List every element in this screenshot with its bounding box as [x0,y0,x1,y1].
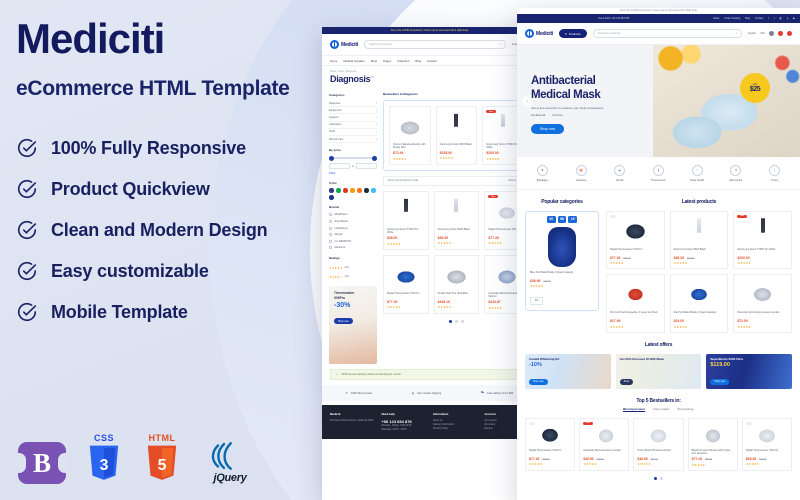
site-header: Mediciti ≡ Products Search for products … [517,23,800,45]
rating-stars: ★★★★☆ [329,275,343,279]
chevron-right-icon: › [376,130,377,133]
product-rating: ★★★★★ [610,261,661,265]
hero-cta-button[interactable]: Shop now [531,124,564,134]
check-circle-icon [16,301,38,323]
utility-link-order-tracking[interactable]: Order Tracking [724,17,740,20]
promo-panel: Mediciti eCommerce HTML Template 100% Fu… [16,18,316,342]
product-price: $36.55 [438,236,476,240]
shield-check-icon: ✓ [336,373,338,376]
color-swatch[interactable] [371,188,376,193]
offer-discount: -10% [529,362,607,368]
promo-card[interactable]: Thermometer X90Pro -30% Shop now [329,286,377,364]
tubes-icon: ▯ [769,165,780,176]
product-rating: ★★★★★ [486,157,520,161]
footer-link-privacy[interactable]: Privacy Policy [433,427,478,431]
utility-link-blog[interactable]: Blog [745,17,750,20]
chevron-right-icon: › [376,123,377,126]
category-label: Microscope [729,179,742,182]
countdown-minutes: 58 [558,216,567,223]
product-badge [529,422,535,426]
jquery-logo [207,441,253,471]
price-old: $45.00 [687,257,694,260]
color-swatch[interactable] [329,188,334,193]
pinterest-icon[interactable]: p [787,17,788,20]
brand-checkbox[interactable]: Abigail [329,231,377,238]
offer-cta-button[interactable]: Shop [620,379,634,385]
product-name: Omron Flatpulse Electric with Stroke Dis… [393,143,427,150]
badge-price: $25 [750,86,760,93]
usp-free-delivery: ⛟ Free delivery from $50 [481,391,513,395]
footer-help-column: Need help +00 123 654 878 Monday - Frida… [382,412,427,431]
sidebar-item-equipment[interactable]: Equipment › [329,107,377,114]
price-current: $77.49 [610,256,620,260]
countdown-seconds: 19 [568,216,577,223]
hero-banner: ‹ Antibacterial Medical Mask Just a few … [517,45,800,157]
slider-handle-min[interactable] [329,156,334,161]
logo-mark-icon [330,40,339,49]
footer-information-column: Information About us Delivery informatio… [433,412,478,431]
product-card[interactable]: Digital Thermometer X30 Pro $77.49 $89.0… [525,418,575,471]
instagram-icon[interactable]: ◧ [780,17,782,20]
price-current: $77.49 [692,457,702,461]
product-badge: New [486,110,495,114]
logo-mark-icon [525,29,534,38]
offer-title: SuperBrush X200 Ultra [710,358,788,362]
latest-offers-title: Latest offers [517,342,800,348]
filter-sidebar: Categories Diagnosis › Equipment › Hygie… [329,88,377,364]
popular-categories-title: Popular categories [525,199,599,205]
promo-discount: -30% [334,302,372,309]
logo-text: Mediciti [536,31,553,37]
feature-item: Clean and Modern Design [16,219,316,241]
category-label: Thermometer [651,179,666,182]
covid-notice-text: Due to the COVID-19 epidemic, orders may… [620,10,698,12]
bestsellers-heading: Bestsellers in Diagnosis [383,93,530,97]
product-image: New [737,215,788,245]
product-card[interactable]: Sale Automatic Blood pressure monitor $4… [579,418,629,471]
price-current: $36.99 [530,279,540,283]
css3-caption: CSS [94,433,114,443]
hero-feature-antibacterial: Anti-Bacterial [531,114,545,117]
delivery-icon: ⛟ [481,391,484,395]
product-rating: ★★★★★ [674,261,725,265]
product-price: $77.49 [387,300,425,304]
price-range-slider[interactable] [329,157,377,159]
color-swatch[interactable] [350,188,355,193]
site-footer: Mediciti 45 Great Portland Street, Calif… [322,405,537,438]
sidebar-item-tools[interactable]: Tools › [329,129,377,136]
twitter-icon[interactable]: t [774,17,775,20]
product-card[interactable]: Home Blood Pressure Monitor $46.65 $55.0… [633,418,683,471]
product-card[interactable]: New SonicLong Sonic X7500 Pro White $209… [733,211,792,270]
technology-badges: B CSS 3 HTML 5 jQuery [18,433,260,484]
hero-title-line2: Medical Mask [531,89,643,103]
feature-label: Clean and Modern Design [51,220,267,241]
sort-label: Sort by: [508,179,517,182]
product-price: $448.15 [438,300,476,304]
offer-cta-button[interactable]: Shop now [710,379,729,385]
category-label: Dental [616,179,623,182]
jquery-label: jQuery [213,472,246,484]
nav-item-pages[interactable]: Pages [383,59,391,63]
heart-icon[interactable] [778,31,783,36]
filter-button[interactable]: Filter [329,172,377,176]
product-rating: ★★★★★ [610,325,661,329]
product-rating: ★★★★★ [440,156,474,160]
search-input[interactable]: Search for products ⌕ [593,29,742,38]
price-current: $66.38 [746,457,756,461]
header-actions: English USD [748,31,792,36]
quantity-stepper[interactable]: 10 [530,297,543,305]
price-min-input[interactable] [329,163,350,169]
product-name: SonicLong Sonic X7500 Pro White [387,228,425,235]
product-image [529,422,571,446]
price-old: $89.00 [542,458,549,461]
product-price: $73.49 [393,151,427,155]
product-badge [746,422,752,426]
product-rating: ★★★★★ [438,305,476,309]
product-name: Digital Thermometer X30 Pro [387,292,425,298]
svg-text:3: 3 [100,457,109,474]
product-name: SonicLong Sonic X7500 Pro White [737,248,788,254]
product-card[interactable]: Digital Thermometer X30 Pro $77.49 ★★★★★ [383,255,429,314]
product-rating: ★★★★★ [583,462,625,466]
product-name: Digital Thermometer X30 Pro [529,449,571,455]
page-title: Diagnosis(72) [322,73,537,88]
checkbox-icon [329,233,332,236]
slider-track [329,157,377,159]
sidebar-item-label: Tools [329,130,335,133]
utility-bar: Need help? +00 123 654 878 About Order T… [517,14,800,23]
product-badge: New [488,195,497,199]
brand-checkbox[interactable]: SilverMedic [329,218,377,225]
pagination-dot[interactable] [654,477,657,480]
product-card[interactable]: SonicLong Sonic R300 Black $36.55 ★★★★★ [434,191,480,250]
price-old: $75.00 [759,458,766,461]
products-menu-button[interactable]: ≡ Products [559,29,587,38]
search-input[interactable]: Search for products ⌕ [364,40,506,49]
color-swatch[interactable] [329,195,334,200]
footer-brand-column: Mediciti 45 Great Portland Street, Calif… [330,412,375,431]
bestseller-tabs: Blood pressure Face masks Stomatology [517,407,800,412]
user-icon[interactable] [769,31,774,36]
site-header: Mediciti Search for products ⌕ English U… [322,34,537,56]
pagination-dot[interactable] [449,320,452,323]
product-rating: ★★★★★ [438,241,476,245]
product-card[interactable]: Hot Cool Pack Reusable, 3 Layer Gel Pack… [606,274,665,333]
rating-count: (24) [345,266,349,269]
product-image [387,259,425,289]
logo-text: Mediciti [341,42,358,48]
product-image [440,110,474,140]
category-dental[interactable]: ◉ Dental [605,165,635,182]
language-selector[interactable]: English [748,32,756,35]
nav-item-shop[interactable]: Shop [371,59,378,63]
product-badge [610,215,616,219]
footer-logo: Mediciti [330,412,375,416]
promo-cta-button[interactable]: Shop now [334,318,353,324]
product-image [674,278,725,308]
shield-icon: ⛨ [346,392,348,395]
price-current: $46.65 [637,457,647,461]
product-image [746,422,788,446]
popular-and-latest: Popular categories 00 58 19 Blue Hot Wat… [517,190,800,333]
product-price: $46.99 $59.00 [583,457,625,461]
pagination-dot[interactable] [461,320,464,323]
product-name: SonicLong Sonic X7500 Pro White [486,143,520,150]
pagination[interactable] [383,320,530,323]
brand-label: O-LABORATO [335,240,352,243]
color-swatch[interactable] [343,188,348,193]
product-image: Sale [583,422,625,446]
utility-link-contact[interactable]: Contact [755,17,763,20]
product-price: $36.99 $49.99 [530,279,594,283]
facebook-icon[interactable]: f [768,17,769,20]
brand-checkbox[interactable]: HeartRoyal [329,225,377,232]
pagination-dot[interactable] [660,477,663,480]
product-price: $36.55 $45.00 [674,256,725,260]
bestsellers-title: Top 5 Bestsellers in: [517,398,800,404]
search-icon[interactable]: ⌕ [500,43,501,46]
rating-stars: ★★★★★ [329,266,343,270]
product-name: Automatic Blood pressure monitor [583,449,625,455]
capsule-icon: ♉ [576,165,587,176]
checkbox-icon [329,220,332,223]
category-thermometer[interactable]: 🌡 Thermometer [643,165,673,182]
search-icon[interactable]: ⌕ [736,32,737,35]
category-microscope[interactable]: ⚗ Microscope [721,165,751,182]
product-image [637,422,679,446]
product-price: $77.49 $89.00 [529,457,571,461]
popular-categories-column: Popular categories 00 58 19 Blue Hot Wat… [525,190,599,333]
sidebar-item-wound-care[interactable]: Wound Care › [329,136,377,143]
css3-badge: CSS 3 [84,433,124,484]
thermometer-icon: 🌡 [653,165,664,176]
nav-item-collection[interactable]: Collection [397,59,409,63]
product-card[interactable]: Omron Flatpulse Electric with Stroke Dis… [389,106,431,165]
product-image [737,278,788,308]
product-card[interactable]: Flat Hot Water Bottle 2 Quart Capacity $… [670,274,729,333]
heart-health-icon: ♡ [692,165,703,176]
product-rating: ★★★★★ [746,462,788,466]
svg-text:5: 5 [158,457,167,474]
utility-link-about[interactable]: About [713,17,719,20]
product-rating: ★★★★★ [637,462,679,466]
product-price: $238.00 [440,151,474,155]
microscope-icon: ⚗ [730,165,741,176]
product-price: $24.00 [674,319,725,323]
category-tubes[interactable]: ▯ Tubes [760,165,790,182]
feature-label: 100% Fully Responsive [51,138,246,159]
rating-count: (16) [345,275,349,278]
sidebar-item-laboratory[interactable]: Laboratory › [329,122,377,129]
product-image [610,215,661,245]
category-bandages[interactable]: ✽ Bandages [527,165,557,182]
sidebar-item-label: Laboratory [329,123,341,126]
color-filter-title: Color [329,181,377,185]
product-card[interactable]: Personal wrist blood pressure monitor $7… [733,274,792,333]
tab-blood-pressure[interactable]: Blood pressure [623,407,645,412]
product-price: $77.49 $89.00 [692,457,734,461]
promo-strip: Due to the COVID-19 epidemic, orders may… [322,27,537,34]
bootstrap-logo: B [18,442,66,484]
search-placeholder: Search for products [369,43,392,46]
page-title-text: Diagnosis [330,74,370,84]
feature-label: Product Quickview [51,179,210,200]
product-card[interactable]: SonicLong Sonic X7500 Pro White $38.00 ★… [383,191,429,250]
product-price: $209.00 [737,256,788,260]
bestsellers-pagination[interactable] [517,477,800,480]
brand-label: MedCure [335,246,346,249]
color-swatch[interactable] [364,188,369,193]
breadcrumb[interactable]: Home / Shop / Diagnosis [322,66,537,73]
product-name: SonicLong Sonic R300 Black [440,143,474,149]
product-rating: ★★★★★ [674,325,725,329]
product-name: Digital Thermometer X30 Pro [610,248,661,254]
usp-label: Non contact shipping [417,392,441,395]
youtube-icon[interactable]: ▶ [793,17,795,20]
category-label: Bandages [537,179,548,182]
countdown-hours: 00 [547,216,556,223]
price-old: $55.00 [651,458,658,461]
color-swatch[interactable] [336,188,341,193]
chevron-right-icon: › [376,116,377,119]
price-filter-title: By price [329,148,377,152]
product-image [548,227,576,267]
category-label: Capsules [576,179,586,182]
bestsellers-grid: Omron Flatpulse Electric with Stroke Dis… [389,106,524,165]
category-capsules[interactable]: ♉ Capsules [566,165,596,182]
sidebar-item-label: Diagnosis [329,102,340,105]
product-title: Mediciti [16,18,316,60]
tab-stomatology[interactable]: Stomatology [677,407,694,412]
site-logo[interactable]: Mediciti [525,29,553,38]
product-card[interactable]: Digital Thermometer X30 Pro $77.49 $89.0… [606,211,665,270]
product-badge: New [737,215,746,219]
tab-face-masks[interactable]: Face masks [653,407,669,412]
product-price: $46.65 $55.00 [637,457,679,461]
product-card[interactable]: Digital Thermometer X30 Pro $66.38 $75.0… [742,418,792,471]
chevron-right-icon: › [376,102,377,105]
product-name: Flat Hot Water Bottle 2 Quart Capacity [674,311,725,317]
chevron-right-icon: › [376,109,377,112]
brand-checkbox[interactable]: O-LABORATO [329,238,377,245]
brand-label: HeartRoyal [335,227,348,230]
price-max-input[interactable] [356,163,377,169]
brand-label: Abigail [335,233,343,236]
rating-filter-row[interactable]: ★★★★☆ (16) [329,272,377,281]
bandage-icon: ✽ [537,165,548,176]
sidebar-item-diagnosis[interactable]: Diagnosis › [329,100,377,107]
offer-card-superbrush[interactable]: SuperBrush X200 Ultra $119.00 Shop now [706,354,792,389]
rating-filter-row[interactable]: ★★★★★ (24) [329,263,377,272]
brand-checkbox[interactable]: MedCure [329,244,377,251]
checkbox-icon [329,240,332,243]
pagination-dot[interactable] [455,320,458,323]
product-name: SonicLong Sonic R300 Black [438,228,476,234]
product-card[interactable]: SonicLong Sonic R300 Black $238.00 ★★★★★ [436,106,478,165]
offer-card-whitening[interactable]: Candid Whitening Kit -10% Shop now [525,354,611,389]
nav-item-contact[interactable]: Contact [427,59,437,63]
offer-card-mask[interactable]: Get 20% Discount Of N95 Mask Shop [616,354,702,389]
utility-phone[interactable]: Need help? +00 123 654 878 [598,17,629,20]
color-swatch[interactable] [357,188,362,193]
product-image [387,195,425,225]
slider-handle-max[interactable] [372,156,377,161]
product-name: Digital Thermometer X30 Pro [746,449,788,455]
main-nav: Home Medical Supplies Shop Pages Collect… [322,56,537,66]
nav-item-medical-supplies[interactable]: Medical Supplies [343,59,364,63]
nav-item-home[interactable]: Home [330,59,337,63]
category-heart-health[interactable]: ♡ Heart Health [682,165,712,182]
brand-label: SilverMedic [335,220,348,223]
sidebar-item-hygiene[interactable]: Hygiene › [329,114,377,121]
color-swatches [329,188,377,200]
usp-label: Free delivery from $50 [487,392,513,395]
usp-money-back: ⛨ 100% Money back [346,391,372,395]
price-current: $46.99 [583,457,593,461]
product-rating: ★★★★★ [387,242,425,246]
html5-logo: 5 [145,444,179,484]
product-area: Bestsellers in Diagnosis Omron Flatpulse… [383,88,530,364]
latest-products-grid: Digital Thermometer X30 Pro $77.49 $89.0… [606,211,792,333]
deal-of-day-card[interactable]: 00 58 19 Blue Hot Water Bottle 2 Quart C… [525,211,599,312]
html5-caption: HTML [149,433,176,443]
product-card[interactable]: Blood Pressure Monitor with Upper Arm De… [688,418,738,471]
price-separator: to [352,165,354,168]
hero-title-line1: Antibacterial [531,75,643,89]
product-image [692,422,734,446]
usp-non-contact: ▤ Non contact shipping [412,391,442,395]
ratings-filter-title: Ratings [329,256,377,260]
feature-label: Easy customizable [51,261,209,282]
bestsellers-grid: Digital Thermometer X30 Pro $77.49 $89.0… [517,418,800,471]
feature-item: Easy customizable [16,260,316,282]
feature-item: Product Quickview [16,178,316,200]
promo-title-line2: X90Pro [334,296,372,300]
cart-icon[interactable] [787,31,792,36]
sidebar-item-label: Hygiene [329,116,339,119]
product-rating: ★★★★★ [737,325,788,329]
currency-selector[interactable]: USD [760,32,765,35]
product-price: $77.49 $89.00 [610,256,661,260]
product-name: Personal wrist blood pressure monitor [737,311,788,317]
checkbox-icon [329,227,332,230]
products-button-label: Products [569,32,581,36]
price-current: $36.55 [674,256,684,260]
jquery-badge: jQuery [200,441,260,484]
check-circle-icon [16,137,38,159]
category-shortcuts: ✽ Bandages ♉ Capsules ◉ Dental 🌡 Thermom… [517,157,800,190]
site-logo[interactable]: Mediciti [330,40,358,49]
price-badge: only $25 [740,73,770,103]
secure-delivery-note: ✓ 100% Secure delivery without contactin… [330,369,529,380]
offer-cta-button[interactable]: Shop now [529,379,548,385]
sale-filter-label[interactable]: Show only products on sale [388,179,419,182]
price-old: $89.00 [705,458,712,461]
product-card[interactable]: SonicLong Sonic R300 Black $36.55 $45.00… [670,211,729,270]
footer-hours-weekend: Saturday: 10:00 - 18:00 [382,428,427,432]
usp-label: 100% Money back [351,392,372,395]
price-old: $49.99 [543,280,550,283]
nav-item-blog[interactable]: Blog [415,59,421,63]
product-card[interactable]: Dental Chair Pro Ultra Elite $448.15 ★★★… [434,255,480,314]
product-image [393,110,427,140]
footer-help-title: Need help [382,412,427,416]
brand-checkbox[interactable]: MediPharm [329,212,377,219]
checkbox-icon [329,246,332,249]
price-old: $89.00 [623,257,630,260]
